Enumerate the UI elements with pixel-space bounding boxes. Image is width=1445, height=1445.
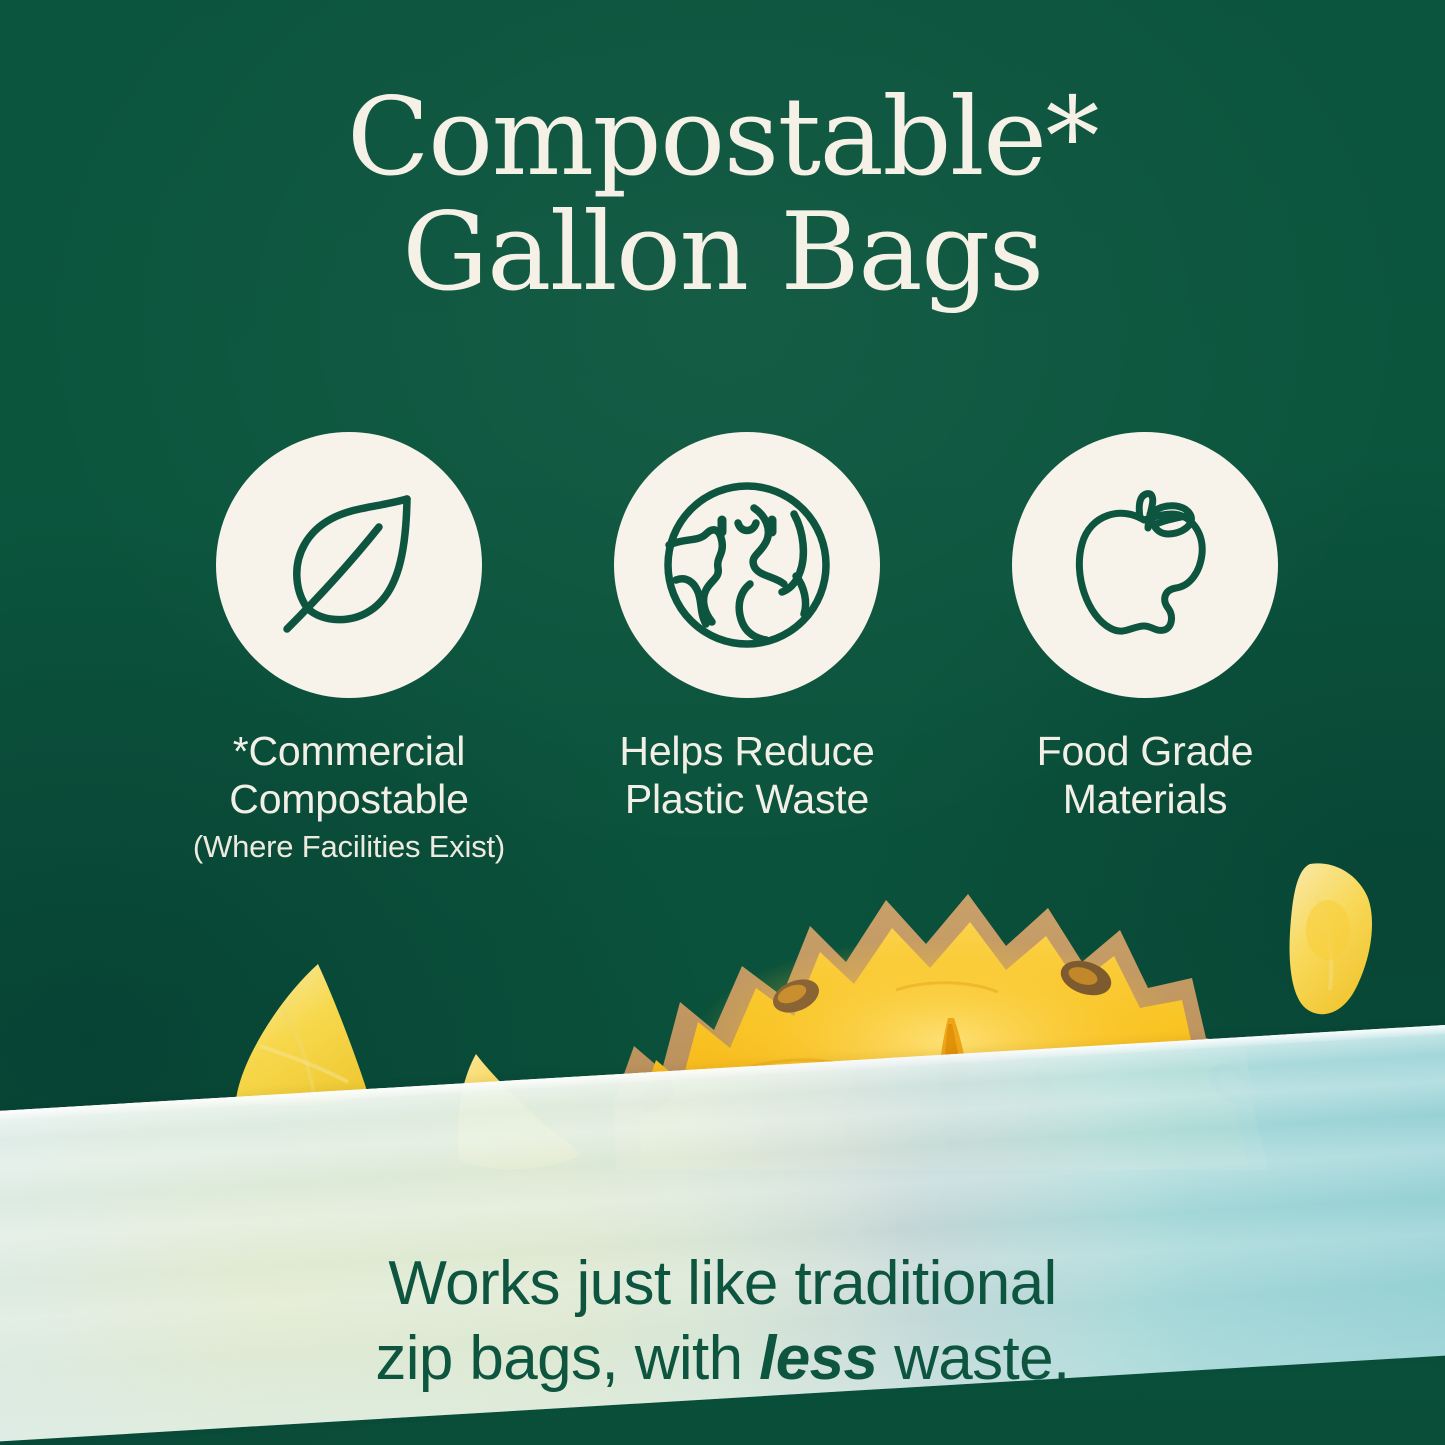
feature-icon-circle <box>216 432 482 698</box>
tagline-line-2: zip bags, with less waste. <box>0 1321 1445 1397</box>
bitten-apple-icon <box>1056 476 1234 654</box>
product-scene: Works just like traditional zip bags, wi… <box>0 830 1445 1445</box>
feature-caption: Food Grade Materials <box>1037 728 1254 823</box>
feature-food-grade-materials: Food Grade Materials <box>950 432 1340 829</box>
tagline: Works just like traditional zip bags, wi… <box>0 1246 1445 1397</box>
feature-commercial-compostable: *Commercial Compostable (Where Facilitie… <box>154 432 544 866</box>
pineapple-chunk-right <box>1272 856 1412 1033</box>
product-marketing-poster: Compostable* Gallon Bags *Commercial Com… <box>0 0 1445 1445</box>
headline-line-1: Compostable* <box>70 78 1375 199</box>
tagline-emphasis: less <box>759 1324 877 1393</box>
headline-line-2: Gallon Bags <box>70 193 1375 314</box>
leaf-icon <box>261 477 437 653</box>
feature-caption: *Commercial Compostable <box>229 728 468 823</box>
smiling-earth-icon <box>654 472 840 658</box>
tagline-line-1: Works just like traditional <box>0 1246 1445 1322</box>
page-title: Compostable* Gallon Bags <box>0 78 1445 314</box>
feature-icon-circle <box>614 432 880 698</box>
tagline-line-2-before: zip bags, with <box>375 1324 759 1393</box>
feature-icon-circle <box>1012 432 1278 698</box>
feature-helps-reduce-plastic-waste: Helps Reduce Plastic Waste <box>552 432 942 829</box>
tagline-line-2-after: waste. <box>877 1324 1069 1393</box>
feature-row: *Commercial Compostable (Where Facilitie… <box>96 432 1349 866</box>
feature-caption: Helps Reduce Plastic Waste <box>619 728 874 823</box>
